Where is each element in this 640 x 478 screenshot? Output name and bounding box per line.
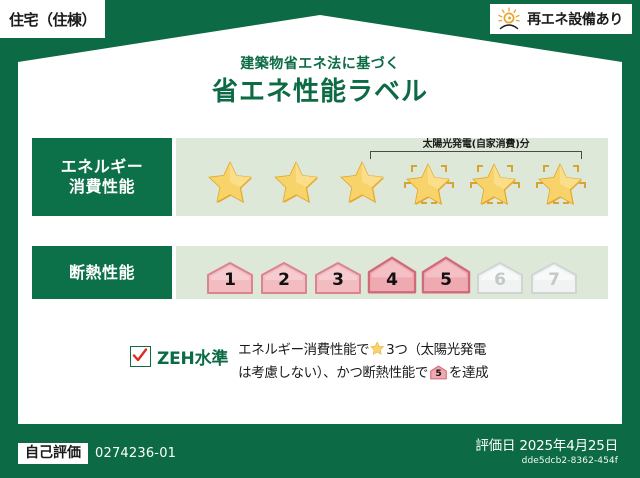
- star-5-solar: [464, 155, 526, 211]
- insulation-performance-panel: 1 2 3: [176, 246, 608, 299]
- solar-bracket: 太陽光発電(自家消費)分: [370, 139, 582, 159]
- zeh-checkbox-group: ZEH水準: [130, 340, 228, 369]
- insulation-grade-2-number: 2: [259, 272, 309, 289]
- star-6-solar: [530, 155, 592, 211]
- star-1: [200, 155, 262, 211]
- insulation-grade-6: 6: [475, 261, 525, 295]
- insulation-grade-5-number: 5: [421, 272, 471, 289]
- solar-bracket-label: 太陽光発電(自家消費)分: [370, 139, 582, 150]
- building-type-label: 住宅（住棟）: [9, 9, 96, 30]
- insulation-grade-2: 2: [259, 261, 309, 295]
- evaluation-date: 評価日 2025年4月25日: [475, 438, 618, 456]
- insulation-grade-5: 5: [421, 255, 471, 295]
- insulation-grade-3-number: 3: [313, 272, 363, 289]
- title-main: 省エネ性能ラベル: [0, 77, 640, 108]
- building-type-tag: 住宅（住棟）: [0, 0, 105, 38]
- inline-house-icon: 5: [430, 365, 447, 380]
- star-4-solar: [398, 155, 460, 211]
- title-subtitle: 建築物省エネ法に基づく: [0, 56, 640, 73]
- self-evaluation-tag: 自己評価: [18, 443, 88, 465]
- zeh-desc-part1: エネルギー消費性能で: [238, 342, 369, 358]
- insulation-grade-7-number: 7: [529, 272, 579, 289]
- zeh-desc-part3: を達成: [449, 365, 488, 381]
- energy-performance-label: 住宅（住棟） 再エネ設備あり 建築物省エネ法に基づく: [0, 0, 640, 478]
- energy-performance-label-box: エネルギー 消費性能: [32, 138, 172, 216]
- insulation-grade-4: 4: [367, 255, 417, 295]
- insulation-performance-label-box: 断熱性能: [32, 246, 172, 299]
- energy-performance-label-text: エネルギー 消費性能: [61, 157, 144, 197]
- zeh-checkbox[interactable]: [130, 346, 151, 367]
- insulation-performance-row: 断熱性能 1 2: [32, 246, 608, 299]
- zeh-title: ZEH水準: [157, 344, 228, 369]
- evaluation-number: 0274236-01: [95, 446, 176, 461]
- zeh-desc-part2: は考慮しない）、かつ断熱性能で: [238, 365, 428, 381]
- zeh-desc-star-count: 3つ（太陽光発電: [386, 342, 486, 358]
- zeh-description: エネルギー消費性能で3つ（太陽光発電は考慮しない）、かつ断熱性能で5を達成: [238, 340, 550, 384]
- insulation-grade-6-number: 6: [475, 272, 525, 289]
- energy-performance-panel: 太陽光発電(自家消費)分: [176, 138, 608, 216]
- evaluation-uuid: dde5dcb2-8362-454f: [475, 455, 618, 468]
- renewable-energy-label: 再エネ設備あり: [527, 9, 623, 29]
- star-rating: [176, 154, 608, 212]
- solar-bracket-line: [370, 151, 582, 159]
- footer-right: 評価日 2025年4月25日 dde5dcb2-8362-454f: [475, 438, 618, 468]
- sun-icon: [496, 7, 522, 31]
- insulation-grade-3: 3: [313, 261, 363, 295]
- inline-house-number: 5: [430, 370, 447, 379]
- energy-performance-row: エネルギー 消費性能 太陽光発電(自家消費)分: [32, 138, 608, 216]
- insulation-grade-1: 1: [205, 261, 255, 295]
- insulation-grade-7: 7: [529, 261, 579, 295]
- inline-star-icon: [370, 341, 385, 363]
- zeh-section: ZEH水準 エネルギー消費性能で3つ（太陽光発電は考慮しない）、かつ断熱性能で5…: [130, 340, 550, 384]
- star-2: [266, 155, 328, 211]
- star-3: [332, 155, 394, 211]
- insulation-grade-1-number: 1: [205, 272, 255, 289]
- renewable-energy-badge: 再エネ設備あり: [490, 4, 632, 34]
- footer-left: 自己評価 0274236-01: [18, 443, 176, 465]
- title-block: 建築物省エネ法に基づく 省エネ性能ラベル: [0, 56, 640, 108]
- insulation-grade-4-number: 4: [367, 272, 417, 289]
- insulation-grade-scale: 1 2 3: [176, 242, 608, 299]
- insulation-performance-label-text: 断熱性能: [69, 263, 135, 283]
